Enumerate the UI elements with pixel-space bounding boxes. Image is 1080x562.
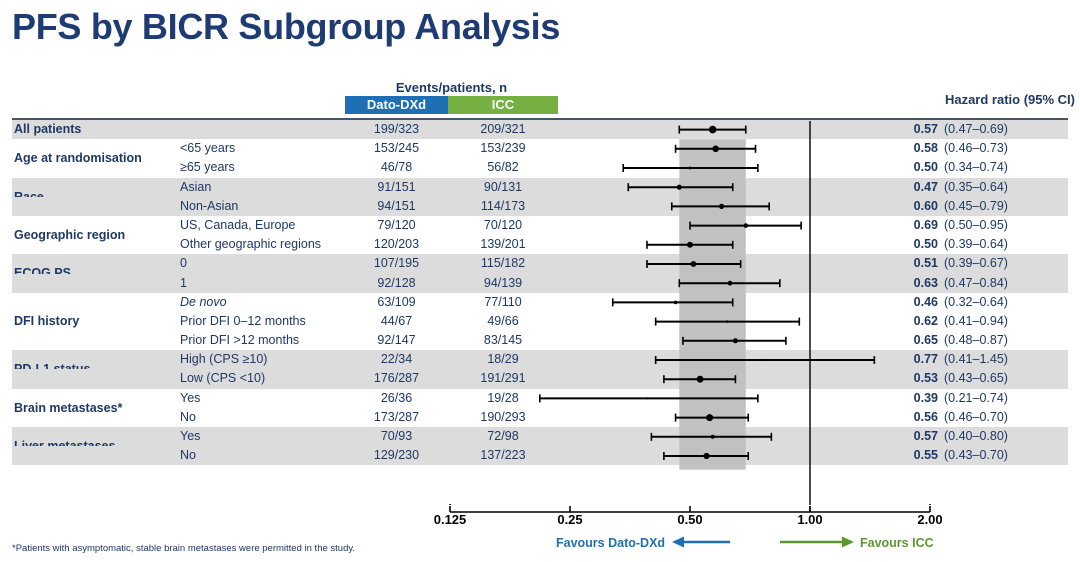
events-icc-cell: 114/173 (448, 197, 558, 216)
events-dato-dxd-cell: 92/147 (345, 331, 448, 350)
subgroup-level-label: De novo (180, 293, 227, 312)
events-dato-dxd-cell: 199/323 (345, 120, 448, 139)
x-axis-tick-label: 0.125 (434, 512, 467, 527)
subgroup-level-label: Non-Asian (180, 197, 238, 216)
hazard-ratio-value: 0.58 (892, 139, 938, 158)
events-icc-cell: 19/28 (448, 389, 558, 408)
events-dato-dxd-cell: 46/78 (345, 158, 448, 177)
events-icc-cell: 49/66 (448, 312, 558, 331)
hazard-ratio-value: 0.57 (892, 120, 938, 139)
page-title: PFS by BICR Subgroup Analysis (12, 6, 560, 48)
subgroup-level-label: Yes (180, 427, 200, 446)
table-row: Prior DFI >12 months92/14783/1450.65(0.4… (12, 331, 1068, 350)
hazard-ratio-ci: (0.47–0.69) (944, 120, 1064, 139)
hazard-ratio-value: 0.50 (892, 235, 938, 254)
hazard-ratio-value: 0.46 (892, 293, 938, 312)
hazard-ratio-column-header: Hazard ratio (95% CI) (915, 92, 1075, 107)
hazard-ratio-ci: (0.34–0.74) (944, 158, 1064, 177)
hazard-ratio-ci: (0.21–0.74) (944, 389, 1064, 408)
events-icc-cell: 115/182 (448, 254, 558, 273)
table-row: Brain metastases*Yes26/3619/280.39(0.21–… (12, 389, 1068, 408)
hazard-ratio-ci: (0.50–0.95) (944, 216, 1064, 235)
subgroup-level-label: No (180, 446, 196, 465)
table-row: Low (CPS <10)176/287191/2910.53(0.43–0.6… (12, 369, 1068, 388)
hazard-ratio-ci: (0.48–0.87) (944, 331, 1064, 350)
table-row: 192/12894/1390.63(0.47–0.84) (12, 274, 1068, 293)
events-dato-dxd-cell: 91/151 (345, 178, 448, 197)
x-axis-tick-label: 1.00 (797, 512, 822, 527)
subgroup-level-label: No (180, 408, 196, 427)
hazard-ratio-value: 0.55 (892, 446, 938, 465)
table-row: ECOG PS0107/195115/1820.51(0.39–0.67) (12, 254, 1068, 273)
x-axis-tick-labels: 0.1250.250.501.002.00 (0, 512, 1080, 530)
table-row: No173/287190/2930.56(0.46–0.70) (12, 408, 1068, 427)
x-axis-tick-label: 0.25 (557, 512, 582, 527)
hazard-ratio-value: 0.65 (892, 331, 938, 350)
hazard-ratio-ci: (0.41–1.45) (944, 350, 1064, 369)
table-row: RaceAsian91/15190/1310.47(0.35–0.64) (12, 178, 1068, 197)
events-icc-cell: 18/29 (448, 350, 558, 369)
x-axis-tick-label: 0.50 (677, 512, 702, 527)
hazard-ratio-ci: (0.39–0.67) (944, 254, 1064, 273)
subgroup-level-label: Yes (180, 389, 200, 408)
subgroup-level-label: US, Canada, Europe (180, 216, 295, 235)
hazard-ratio-value: 0.50 (892, 158, 938, 177)
table-row: Non-Asian94/151114/1730.60(0.45–0.79) (12, 197, 1068, 216)
table-row: Liver metastasesYes70/9372/980.57(0.40–0… (12, 427, 1068, 446)
footnote: *Patients with asymptomatic, stable brai… (12, 543, 355, 554)
subgroup-level-label: Asian (180, 178, 211, 197)
hazard-ratio-ci: (0.40–0.80) (944, 427, 1064, 446)
hazard-ratio-ci: (0.45–0.79) (944, 197, 1064, 216)
events-icc-cell: 209/321 (448, 120, 558, 139)
events-icc-cell: 56/82 (448, 158, 558, 177)
events-icc-cell: 139/201 (448, 235, 558, 254)
subgroup-table: All patients199/323209/3210.57(0.47–0.69… (12, 120, 1068, 465)
events-dato-dxd-cell: 92/128 (345, 274, 448, 293)
hazard-ratio-ci: (0.35–0.64) (944, 178, 1064, 197)
events-dato-dxd-cell: 153/245 (345, 139, 448, 158)
events-dato-dxd-cell: 26/36 (345, 389, 448, 408)
events-icc-cell: 83/145 (448, 331, 558, 350)
table-row: Geographic regionUS, Canada, Europe79/12… (12, 216, 1068, 235)
events-dato-dxd-cell: 176/287 (345, 369, 448, 388)
subgroup-level-label: Low (CPS <10) (180, 369, 265, 388)
events-dato-dxd-cell: 173/287 (345, 408, 448, 427)
favours-right-arrow-head (842, 537, 854, 548)
subgroup-level-label: <65 years (180, 139, 235, 158)
hazard-ratio-ci: (0.32–0.64) (944, 293, 1064, 312)
hazard-ratio-value: 0.47 (892, 178, 938, 197)
events-dato-dxd-cell: 79/120 (345, 216, 448, 235)
table-row: No129/230137/2230.55(0.43–0.70) (12, 446, 1068, 465)
hazard-ratio-ci: (0.39–0.64) (944, 235, 1064, 254)
hazard-ratio-value: 0.69 (892, 216, 938, 235)
events-dato-dxd-cell: 22/34 (345, 350, 448, 369)
table-row: Age at randomisation<65 years153/245153/… (12, 139, 1068, 158)
events-dato-dxd-cell: 63/109 (345, 293, 448, 312)
subgroup-level-label: Prior DFI >12 months (180, 331, 299, 350)
table-row: Other geographic regions120/203139/2010.… (12, 235, 1068, 254)
hazard-ratio-ci: (0.43–0.65) (944, 369, 1064, 388)
arm-header-dato-dxd: Dato-DXd (345, 96, 448, 114)
events-dato-dxd-cell: 44/67 (345, 312, 448, 331)
hazard-ratio-value: 0.62 (892, 312, 938, 331)
hazard-ratio-value: 0.56 (892, 408, 938, 427)
events-icc-cell: 94/139 (448, 274, 558, 293)
events-dato-dxd-cell: 70/93 (345, 427, 448, 446)
hazard-ratio-ci: (0.43–0.70) (944, 446, 1064, 465)
events-icc-cell: 153/239 (448, 139, 558, 158)
subgroup-level-label: 0 (180, 254, 187, 273)
hazard-ratio-value: 0.57 (892, 427, 938, 446)
table-bottom-divider (12, 505, 1068, 506)
events-dato-dxd-cell: 129/230 (345, 446, 448, 465)
subgroup-level-label: High (CPS ≥10) (180, 350, 267, 369)
hazard-ratio-value: 0.53 (892, 369, 938, 388)
events-icc-cell: 70/120 (448, 216, 558, 235)
events-dato-dxd-cell: 120/203 (345, 235, 448, 254)
hazard-ratio-ci: (0.41–0.94) (944, 312, 1064, 331)
table-row: PD-L1 statusHigh (CPS ≥10)22/3418/290.77… (12, 350, 1068, 369)
events-icc-cell: 190/293 (448, 408, 558, 427)
subgroup-label: All patients (14, 120, 81, 139)
table-row: ≥65 years46/7856/820.50(0.34–0.74) (12, 158, 1068, 177)
hazard-ratio-value: 0.60 (892, 197, 938, 216)
events-icc-cell: 72/98 (448, 427, 558, 446)
events-icc-cell: 90/131 (448, 178, 558, 197)
hazard-ratio-ci: (0.47–0.84) (944, 274, 1064, 293)
hazard-ratio-ci: (0.46–0.70) (944, 408, 1064, 427)
x-axis-tick-label: 2.00 (917, 512, 942, 527)
slide-root: PFS by BICR Subgroup Analysis Events/pat… (0, 0, 1080, 562)
hazard-ratio-value: 0.51 (892, 254, 938, 273)
events-icc-cell: 137/223 (448, 446, 558, 465)
table-row: All patients199/323209/3210.57(0.47–0.69… (12, 120, 1068, 139)
subgroup-level-label: ≥65 years (180, 158, 235, 177)
events-dato-dxd-cell: 94/151 (345, 197, 448, 216)
subgroup-level-label: Prior DFI 0–12 months (180, 312, 306, 331)
favours-left-arrow-head (672, 537, 684, 548)
subgroup-level-label: 1 (180, 274, 187, 293)
table-row: DFI historyDe novo63/10977/1100.46(0.32–… (12, 293, 1068, 312)
hazard-ratio-value: 0.39 (892, 389, 938, 408)
subgroup-level-label: Other geographic regions (180, 235, 321, 254)
hazard-ratio-ci: (0.46–0.73) (944, 139, 1064, 158)
hazard-ratio-value: 0.77 (892, 350, 938, 369)
events-column-header: Events/patients, n (345, 80, 558, 95)
events-icc-cell: 191/291 (448, 369, 558, 388)
events-dato-dxd-cell: 107/195 (345, 254, 448, 273)
events-icc-cell: 77/110 (448, 293, 558, 312)
arm-header-icc: ICC (448, 96, 558, 114)
table-row: Prior DFI 0–12 months44/6749/660.62(0.41… (12, 312, 1068, 331)
hazard-ratio-value: 0.63 (892, 274, 938, 293)
